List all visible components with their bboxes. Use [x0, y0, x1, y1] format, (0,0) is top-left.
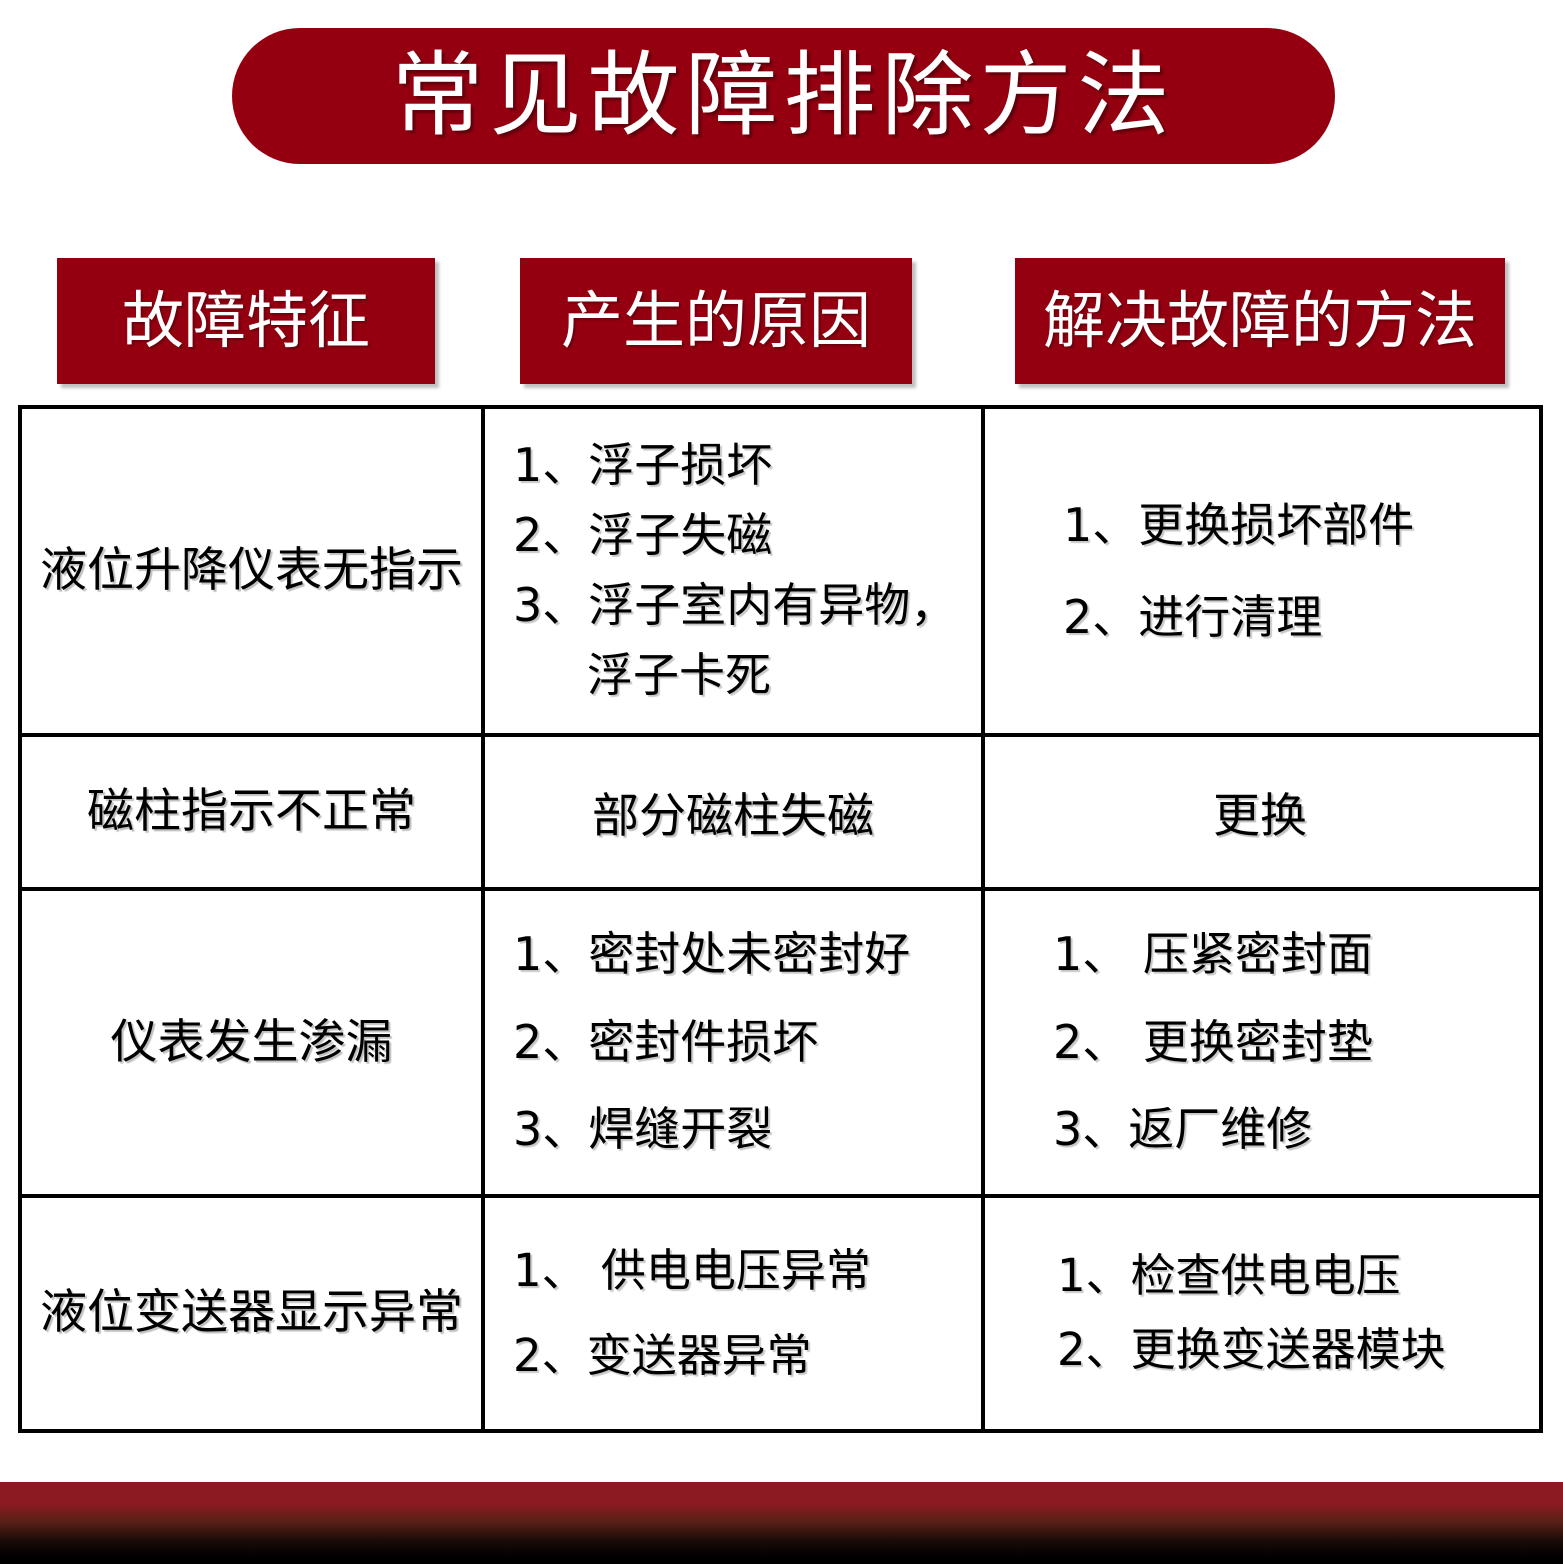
list-item: 2、密封件损坏	[513, 999, 981, 1086]
column-header-badges: 故障特征 产生的原因 解决故障的方法	[0, 258, 1563, 386]
solution-single-text: 更换	[985, 777, 1535, 846]
list-item: 3、焊缝开裂	[513, 1086, 981, 1173]
cell-solutions: 更换	[985, 737, 1535, 887]
cell-causes: 1、 供电电压异常 2、变送器异常	[485, 1198, 985, 1429]
list-item: 2、 更换密封垫	[1053, 999, 1535, 1086]
table-row: 磁柱指示不正常 部分磁柱失磁 更换	[22, 737, 1539, 891]
cell-solutions: 1、检查供电电压 2、更换变送器模块	[985, 1198, 1535, 1429]
cell-fault-feature: 磁柱指示不正常	[22, 737, 485, 887]
cause-single-text: 部分磁柱失磁	[485, 777, 981, 846]
list-item: 1、更换损坏部件	[1063, 479, 1535, 571]
list-item: 3、返厂维修	[1053, 1086, 1535, 1173]
table-row: 液位变送器显示异常 1、 供电电压异常 2、变送器异常 1、检查供电电压 2、更…	[22, 1198, 1539, 1429]
column-header-solution: 解决故障的方法	[1015, 258, 1505, 384]
cause-item-text: 3、浮子室内有异物，	[513, 578, 956, 632]
cell-fault-feature: 液位升降仪表无指示	[22, 409, 485, 733]
troubleshooting-table: 液位升降仪表无指示 1、浮子损坏 2、浮子失磁 3、浮子室内有异物，浮子卡死 1…	[18, 405, 1543, 1433]
cause-item-text: 2、变送器异常	[513, 1329, 812, 1382]
solution-item-text: 1、检查供电电压	[1057, 1249, 1401, 1302]
solution-item-text: 2、进行清理	[1063, 590, 1322, 644]
solution-item-text: 2、更换变送器模块	[1057, 1323, 1446, 1376]
column-header-fault-feature-label: 故障特征	[122, 290, 370, 352]
solution-item-text: 3、返厂维修	[1053, 1102, 1312, 1156]
list-item: 1、浮子损坏	[513, 431, 981, 501]
cell-solutions: 1、 压紧密封面 2、 更换密封垫 3、返厂维修	[985, 891, 1535, 1194]
fault-feature-text: 液位变送器显示异常	[40, 1286, 463, 1340]
list-item: 1、检查供电电压	[1057, 1239, 1535, 1313]
column-header-cause: 产生的原因	[520, 258, 912, 384]
cause-list: 1、浮子损坏 2、浮子失磁 3、浮子室内有异物，浮子卡死	[485, 431, 981, 711]
cause-item-text: 1、密封处未密封好	[513, 927, 910, 981]
solution-item-text: 2、 更换密封垫	[1053, 1015, 1373, 1069]
table-row: 液位升降仪表无指示 1、浮子损坏 2、浮子失磁 3、浮子室内有异物，浮子卡死 1…	[22, 409, 1539, 737]
cell-solutions: 1、更换损坏部件 2、进行清理	[985, 409, 1535, 733]
solution-list: 1、更换损坏部件 2、进行清理	[985, 479, 1535, 663]
cause-item-text: 2、浮子失磁	[513, 508, 772, 562]
column-header-solution-label: 解决故障的方法	[1043, 290, 1477, 352]
list-item: 3、浮子室内有异物，浮子卡死	[513, 571, 981, 711]
cause-item-text: 1、浮子损坏	[513, 438, 772, 492]
cause-item-continuation: 浮子卡死	[513, 641, 981, 711]
cause-item-text: 3、焊缝开裂	[513, 1102, 772, 1156]
cell-causes: 1、浮子损坏 2、浮子失磁 3、浮子室内有异物，浮子卡死	[485, 409, 985, 733]
cause-list: 1、密封处未密封好 2、密封件损坏 3、焊缝开裂	[485, 911, 981, 1173]
list-item: 2、浮子失磁	[513, 501, 981, 571]
list-item: 1、 压紧密封面	[1053, 911, 1535, 998]
fault-feature-text: 磁柱指示不正常	[87, 785, 416, 839]
solution-list: 1、 压紧密封面 2、 更换密封垫 3、返厂维修	[985, 911, 1535, 1173]
list-item: 1、 供电电压异常	[513, 1228, 981, 1314]
list-item: 1、密封处未密封好	[513, 911, 981, 998]
solution-item-text: 1、 压紧密封面	[1053, 927, 1373, 981]
cause-list: 1、 供电电压异常 2、变送器异常	[485, 1228, 981, 1399]
footer-gradient-bar	[0, 1482, 1563, 1564]
fault-feature-text: 液位升降仪表无指示	[40, 544, 463, 598]
cell-fault-feature: 仪表发生渗漏	[22, 891, 485, 1194]
cause-item-text: 2、密封件损坏	[513, 1015, 818, 1069]
cell-fault-feature: 液位变送器显示异常	[22, 1198, 485, 1429]
cause-item-text: 1、 供电电压异常	[513, 1244, 871, 1297]
column-header-cause-label: 产生的原因	[561, 290, 871, 352]
page-title: 常见故障排除方法	[391, 50, 1175, 142]
fault-feature-text: 仪表发生渗漏	[111, 1016, 393, 1070]
table-row: 仪表发生渗漏 1、密封处未密封好 2、密封件损坏 3、焊缝开裂 1、 压紧密封面…	[22, 891, 1539, 1198]
list-item: 2、更换变送器模块	[1057, 1313, 1535, 1387]
cell-causes: 部分磁柱失磁	[485, 737, 985, 887]
page-title-banner: 常见故障排除方法	[232, 28, 1335, 164]
solution-list: 1、检查供电电压 2、更换变送器模块	[985, 1239, 1535, 1388]
column-header-fault-feature: 故障特征	[57, 258, 435, 384]
solution-item-text: 1、更换损坏部件	[1063, 498, 1414, 552]
list-item: 2、进行清理	[1063, 571, 1535, 663]
list-item: 2、变送器异常	[513, 1313, 981, 1399]
cell-causes: 1、密封处未密封好 2、密封件损坏 3、焊缝开裂	[485, 891, 985, 1194]
